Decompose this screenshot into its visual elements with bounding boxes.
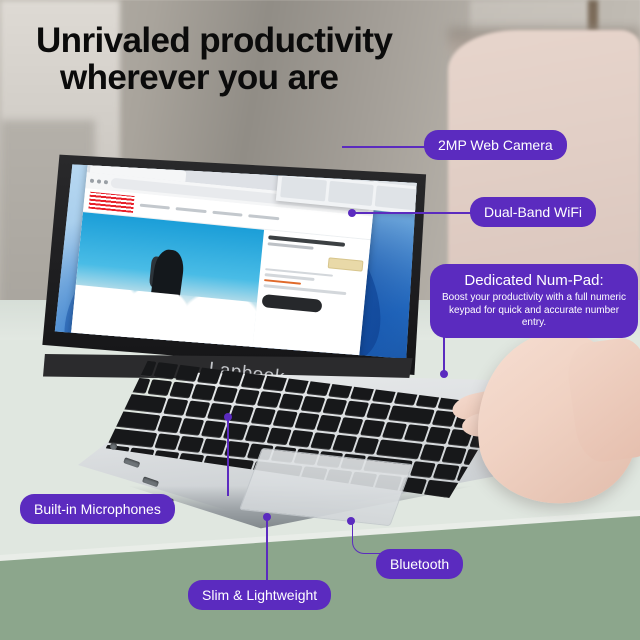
key [322,398,347,415]
leader-line-microphones [227,417,229,496]
product-spec-line [263,284,346,295]
product-hero-image [71,212,264,352]
key [185,401,210,418]
add-to-cart-button[interactable] [261,294,322,313]
key [235,389,260,406]
key [344,400,369,417]
leader-line-wifi [354,212,474,214]
callout-slim-label: Slim & Lightweight [202,587,317,603]
backspace-key [388,405,435,425]
key [245,425,270,442]
callout-microphones[interactable]: Built-in Microphones [20,494,175,524]
site-logo[interactable] [88,191,134,212]
key [354,437,379,454]
callout-num-pad[interactable]: Dedicated Num-Pad: Boost your productivi… [430,264,638,338]
key [163,399,188,416]
key [257,391,282,408]
numpad-key [433,463,460,480]
numpad-key [410,461,437,478]
overlay-cell[interactable] [280,176,327,201]
reload-icon[interactable] [104,180,108,184]
callout-bluetooth[interactable]: Bluetooth [376,549,463,579]
callout-wifi-label: Dual-Band WiFi [484,204,582,220]
key [125,377,150,394]
key [360,420,385,437]
tab-key [119,394,166,414]
key [366,403,391,420]
key [251,408,276,425]
key [200,438,227,455]
numpad-key [442,447,467,464]
headline-line-1: Unrivaled productivity [36,21,392,60]
callout-microphones-label: Built-in Microphones [34,501,161,517]
callout-num-pad-label: Dedicated Num-Pad: [464,272,603,289]
audio-jack-port [109,442,118,451]
key [229,406,254,423]
usb-port [123,457,140,468]
callout-wifi[interactable]: Dual-Band WiFi [470,197,596,227]
callout-web-camera[interactable]: 2MP Web Camera [424,130,567,160]
browser-new-tab-button[interactable] [187,171,211,184]
product-detail-panel [252,229,370,360]
product-subtitle [267,242,314,250]
numpad-key [420,444,445,461]
key [153,362,178,379]
key [404,425,429,442]
page-title: Unrivaled productivity wherever you are [36,22,466,96]
capslock-key [113,411,160,431]
key [310,432,335,449]
key [191,384,216,401]
product-price [264,279,301,285]
key [288,430,313,447]
key [316,415,341,432]
overlay-cell[interactable] [328,181,375,206]
overlay-cell[interactable] [375,185,422,210]
color-swatch[interactable] [327,257,363,271]
leader-line-web-camera [342,146,432,148]
key [201,420,226,437]
key [267,428,292,445]
nav-link[interactable] [176,207,207,213]
key [294,413,319,430]
back-icon[interactable] [90,178,94,182]
callout-slim[interactable]: Slim & Lightweight [188,580,331,610]
key [278,393,303,410]
key [147,379,172,396]
callout-num-pad-description: Boost your productivity with a full nume… [442,292,626,330]
key [332,435,357,452]
headline-line-2: wherever you are [60,59,466,96]
key [338,418,363,435]
key [300,396,325,413]
nav-link[interactable] [249,214,280,220]
key [157,416,182,433]
key [213,386,238,403]
callout-bluetooth-label: Bluetooth [390,556,449,572]
key [273,410,298,427]
enter-key [376,439,423,459]
key [179,418,204,435]
callout-web-camera-label: 2MP Web Camera [438,137,553,153]
infographic-canvas: Lapbook [0,0,640,640]
numpad-key [426,427,451,444]
forward-icon[interactable] [97,179,101,183]
nav-link[interactable] [212,210,243,216]
key [382,422,407,439]
key [177,436,204,453]
key [169,381,194,398]
usb-port [142,476,159,487]
nav-link[interactable] [139,203,170,209]
leader-line-slim [266,517,268,582]
key [154,433,181,450]
